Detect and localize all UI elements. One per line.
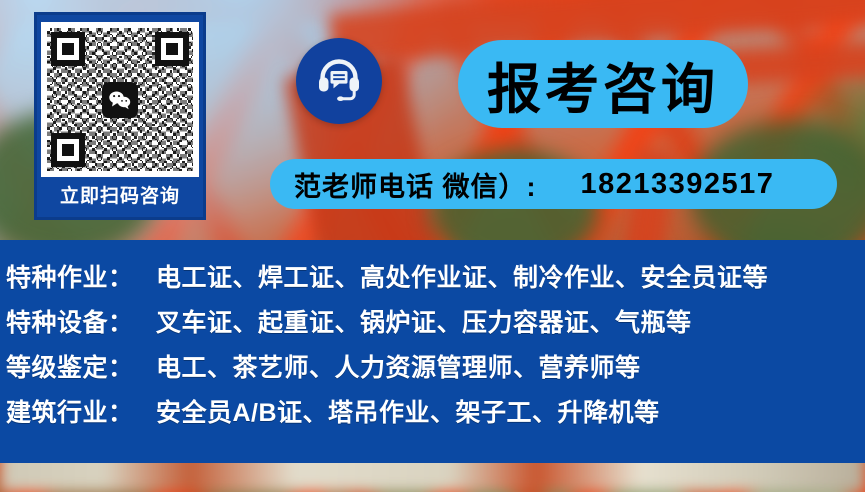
category-value: 电工证、焊工证、高处作业证、制冷作业、安全员证等	[156, 258, 768, 294]
headset-badge[interactable]	[296, 38, 382, 124]
list-item: 等级鉴定： 电工、茶艺师、人力资源管理师、营养师等	[6, 348, 865, 393]
qr-finder-pattern	[51, 32, 85, 66]
category-value: 安全员A/B证、塔吊作业、架子工、升降机等	[156, 393, 660, 429]
qr-code-image[interactable]	[41, 22, 199, 177]
consult-cta-label: 报考咨询	[487, 45, 719, 124]
category-value: 叉车证、起重证、锅炉证、压力容器证、气瓶等	[156, 303, 692, 339]
category-list-panel: 特种作业： 电工证、焊工证、高处作业证、制冷作业、安全员证等 特种设备： 叉车证…	[0, 240, 865, 463]
category-label: 建筑行业：	[6, 393, 156, 429]
contact-pill[interactable]: 范老师电话 微信）: 18213392517	[270, 159, 837, 209]
qr-caption: 立即扫码咨询	[60, 177, 180, 217]
promo-poster: 立即扫码咨询 报考咨询 范老师电话 微信）: 18213392517	[0, 0, 865, 492]
qr-card[interactable]: 立即扫码咨询	[34, 12, 206, 220]
category-label: 等级鉴定：	[6, 348, 156, 384]
wechat-icon	[102, 82, 138, 118]
qr-finder-pattern	[155, 32, 189, 66]
category-label: 特种作业：	[6, 258, 156, 294]
category-label: 特种设备：	[6, 303, 156, 339]
qr-finder-pattern	[51, 133, 85, 167]
list-item: 特种设备： 叉车证、起重证、锅炉证、压力容器证、气瓶等	[6, 303, 865, 348]
category-value: 电工、茶艺师、人力资源管理师、营养师等	[156, 348, 641, 384]
contact-number[interactable]: 18213392517	[581, 168, 775, 201]
consult-cta-button[interactable]: 报考咨询	[458, 40, 748, 128]
list-item: 建筑行业： 安全员A/B证、塔吊作业、架子工、升降机等	[6, 393, 865, 438]
contact-label: 范老师电话 微信）:	[294, 165, 537, 204]
headset-chat-icon	[313, 53, 365, 110]
list-item: 特种作业： 电工证、焊工证、高处作业证、制冷作业、安全员证等	[6, 258, 865, 303]
